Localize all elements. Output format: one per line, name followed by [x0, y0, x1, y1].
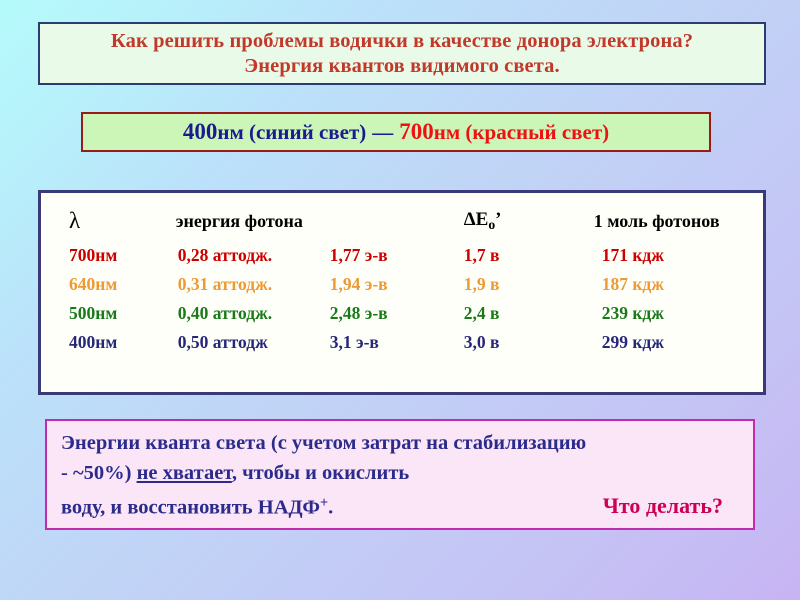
cell-mole-kj: 239 кдж — [590, 299, 763, 328]
range-dash: — — [366, 120, 399, 144]
red-wavelength-value: 700 — [399, 119, 434, 144]
table-body: 700нм 0,28 аттодж. 1,77 э-в 1,7 в 171 кд… — [41, 241, 763, 357]
table-row: 640нм 0,31 аттодж. 1,94 э-в 1,9 в 187 кд… — [41, 270, 763, 299]
cell-energy-ev: 1,77 э-в — [330, 241, 460, 270]
cell-delta-e: 1,7 в — [460, 241, 590, 270]
delta-e-prime: ’ — [495, 209, 501, 230]
column-header-delta-e: ΔEo’ — [460, 201, 590, 241]
cell-wavelength: 400нм — [41, 328, 164, 357]
note-line-2: - ~50%) не хватает, чтобы и окислить — [61, 458, 739, 488]
cell-delta-e: 3,0 в — [460, 328, 590, 357]
delta-e-main: ΔE — [464, 209, 489, 230]
cell-wavelength: 700нм — [41, 241, 164, 270]
title-line-1: Как решить проблемы водички в качестве д… — [111, 29, 693, 54]
cell-mole-kj: 299 кдж — [590, 328, 763, 357]
cell-energy-ev: 1,94 э-в — [330, 270, 460, 299]
cell-wavelength: 500нм — [41, 299, 164, 328]
table-row: 400нм 0,50 аттодж 3,1 э-в 3,0 в 299 кдж — [41, 328, 763, 357]
blue-wavelength-value: 400 — [183, 119, 218, 144]
cell-energy-ev: 3,1 э-в — [330, 328, 460, 357]
cell-delta-e: 2,4 в — [460, 299, 590, 328]
nadp-plus-superscript: + — [320, 495, 328, 511]
cell-mole-kj: 187 кдж — [590, 270, 763, 299]
cell-energy-ev: 2,48 э-в — [330, 299, 460, 328]
table-row: 700нм 0,28 аттодж. 1,77 э-в 1,7 в 171 кд… — [41, 241, 763, 270]
column-header-wavelength: λ — [41, 201, 164, 241]
note-line-2-prefix: - ~50%) — [61, 462, 137, 484]
title-line-2: Энергия квантов видимого света. — [244, 54, 559, 79]
column-header-spacer — [330, 201, 460, 241]
table-header: λ энергия фотона ΔEo’ 1 моль фотонов — [41, 201, 763, 241]
red-wavelength-unit: нм (красный свет) — [434, 120, 609, 144]
title-box: Как решить проблемы водички в качестве д… — [38, 22, 766, 85]
photon-energy-table: λ энергия фотона ΔEo’ 1 моль фотонов 700… — [41, 201, 763, 357]
wavelength-range-box: 400нм (синий свет)—700нм (красный свет) — [81, 112, 711, 152]
column-header-mole-photons: 1 моль фотонов — [590, 201, 763, 241]
note-line-2-suffix: , чтобы и окислить — [232, 462, 409, 484]
photon-energy-table-box: λ энергия фотона ΔEo’ 1 моль фотонов 700… — [38, 190, 766, 395]
cell-energy-joule: 0,28 аттодж. — [164, 241, 330, 270]
note-line-3: воду, и восстановить НАДФ+. Что делать? — [61, 488, 739, 522]
table-row: 500нм 0,40 аттодж. 2,48 э-в 2,4 в 239 кд… — [41, 299, 763, 328]
blue-wavelength-unit: нм (синий свет) — [217, 120, 366, 144]
cell-energy-joule: 0,31 аттодж. — [164, 270, 330, 299]
wavelength-range-text: 400нм (синий свет)—700нм (красный свет) — [183, 119, 609, 145]
table-header-row: λ энергия фотона ΔEo’ 1 моль фотонов — [41, 201, 763, 241]
call-to-action-text: Что делать? — [603, 491, 739, 521]
cell-mole-kj: 171 кдж — [590, 241, 763, 270]
note-line-3-text: воду, и восстановить НАДФ+. — [61, 488, 333, 522]
cell-energy-joule: 0,40 аттодж. — [164, 299, 330, 328]
note-line-3-suffix: . — [328, 496, 333, 518]
slide-canvas: Как решить проблемы водички в качестве д… — [0, 0, 800, 600]
column-header-photon-energy: энергия фотона — [164, 201, 330, 241]
cell-delta-e: 1,9 в — [460, 270, 590, 299]
note-emphasis-not-enough: не хватает — [137, 462, 232, 484]
cell-energy-joule: 0,50 аттодж — [164, 328, 330, 357]
conclusion-note-box: Энергии кванта света (с учетом затрат на… — [45, 419, 755, 530]
note-line-3-prefix: воду, и восстановить НАДФ — [61, 496, 320, 518]
note-line-1: Энергии кванта света (с учетом затрат на… — [61, 428, 739, 458]
cell-wavelength: 640нм — [41, 270, 164, 299]
